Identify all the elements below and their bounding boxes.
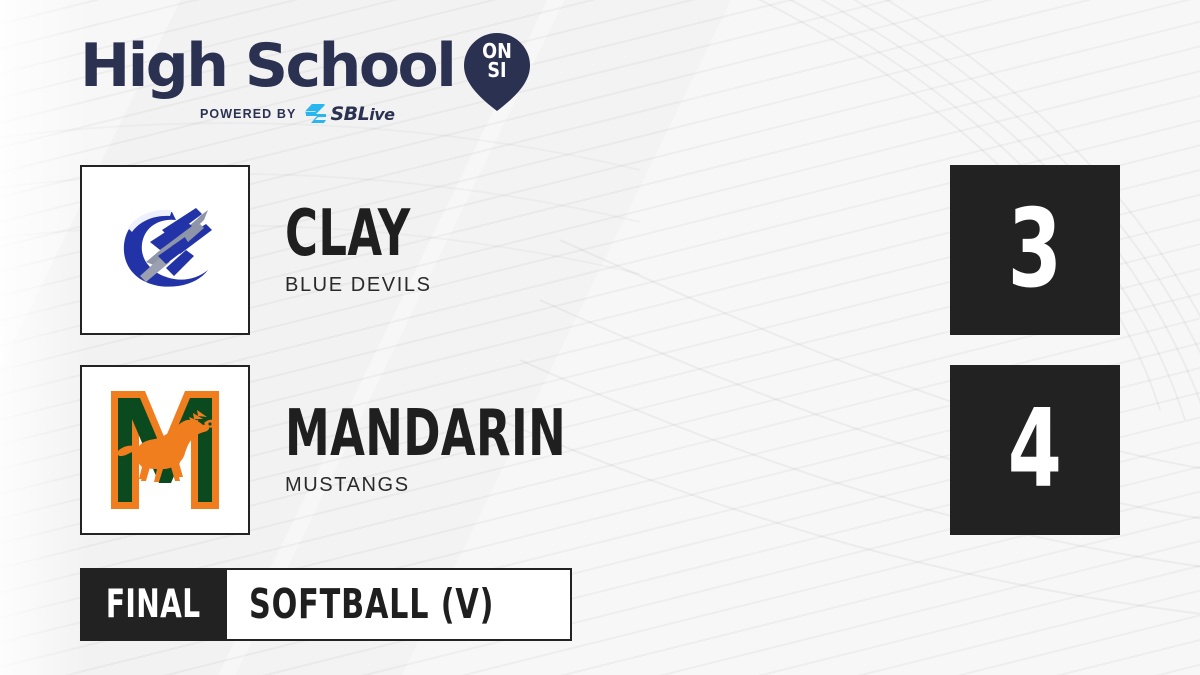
score-box-mandarin: 4 <box>950 365 1120 535</box>
on-si-pin-icon: ON SI <box>464 33 510 111</box>
score-value-clay: 3 <box>1008 196 1062 304</box>
game-status-bar: FINAL SOFTBALL (V) <box>80 568 572 641</box>
team-info-mandarin: MANDARIN MUSTANGS <box>285 365 645 535</box>
background-left-fade <box>0 0 90 675</box>
sblive-name: SBL <box>330 103 369 125</box>
mandarin-mustangs-logo <box>105 387 225 513</box>
brand-title: High School <box>80 36 454 96</box>
team-name-mandarin: MANDARIN <box>285 404 566 464</box>
score-value-mandarin: 4 <box>1008 396 1062 504</box>
sblive-logo: SBLive <box>305 104 394 124</box>
sblive-wordmark: SBLive <box>330 105 394 124</box>
score-box-clay: 3 <box>950 165 1120 335</box>
powered-by-label: POWERED BY <box>200 107 296 121</box>
sblive-name-suffix: ive <box>369 105 394 124</box>
powered-by-row: POWERED BY SBLive <box>80 104 510 124</box>
team-info-clay: CLAY BLUE DEVILS <box>285 165 446 335</box>
team-logo-box-clay <box>80 165 250 335</box>
status-badge: FINAL <box>80 568 227 641</box>
team-name-clay: CLAY <box>285 204 411 264</box>
team-logo-box-mandarin <box>80 365 250 535</box>
on-si-pin-text: ON SI <box>468 42 526 80</box>
team-mascot-mandarin: MUSTANGS <box>285 474 645 497</box>
brand-logo: High School ON SI POWERED BY SBLive <box>80 36 510 136</box>
sblive-s-mark-icon <box>305 104 327 124</box>
team-mascot-clay: BLUE DEVILS <box>285 274 446 297</box>
status-badge-label: FINAL <box>106 585 201 624</box>
sport-label: SOFTBALL (V) <box>249 584 494 625</box>
pin-line-si: SI <box>468 61 526 80</box>
sport-label-box: SOFTBALL (V) <box>227 568 572 641</box>
brand-logo-row: High School ON SI <box>80 36 510 100</box>
clay-blue-devils-logo <box>100 190 230 310</box>
